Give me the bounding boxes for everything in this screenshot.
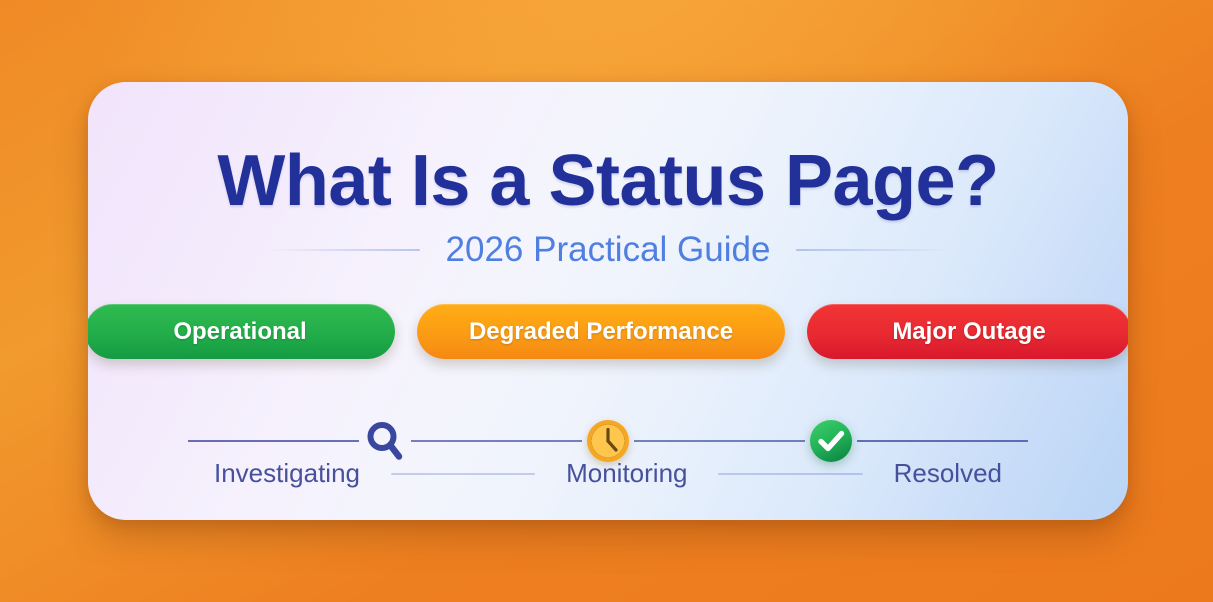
status-badge-operational[interactable]: Operational [88,304,395,359]
subtitle-row: 2026 Practical Guide [88,230,1128,270]
page-title: What Is a Status Page? [88,140,1128,222]
timeline-label-monitoring: Monitoring [566,458,687,489]
timeline-segment-start [188,440,359,442]
status-badge-group: Operational Degraded Performance Major O… [88,304,1128,359]
status-badge-degraded-performance[interactable]: Degraded Performance [417,304,785,359]
status-page-card: What Is a Status Page? 2026 Practical Gu… [88,82,1128,520]
incident-timeline: Investigating Monitoring Resolved [188,400,1028,504]
timeline-label-rule-2 [688,473,894,475]
page-subtitle: 2026 Practical Guide [446,230,771,270]
subtitle-rule-left [272,249,420,251]
status-badge-major-outage[interactable]: Major Outage [807,304,1128,359]
timeline-label-resolved: Resolved [894,458,1002,489]
subtitle-rule-right [796,249,944,251]
poster-canvas: What Is a Status Page? 2026 Practical Gu… [0,0,1213,602]
timeline-segment-end [857,440,1028,442]
timeline-segment-2 [634,440,805,442]
timeline-label-investigating: Investigating [214,458,360,489]
timeline-segment-1 [411,440,582,442]
timeline-labels: Investigating Monitoring Resolved [188,458,1028,489]
timeline-label-rule-1 [360,473,566,475]
